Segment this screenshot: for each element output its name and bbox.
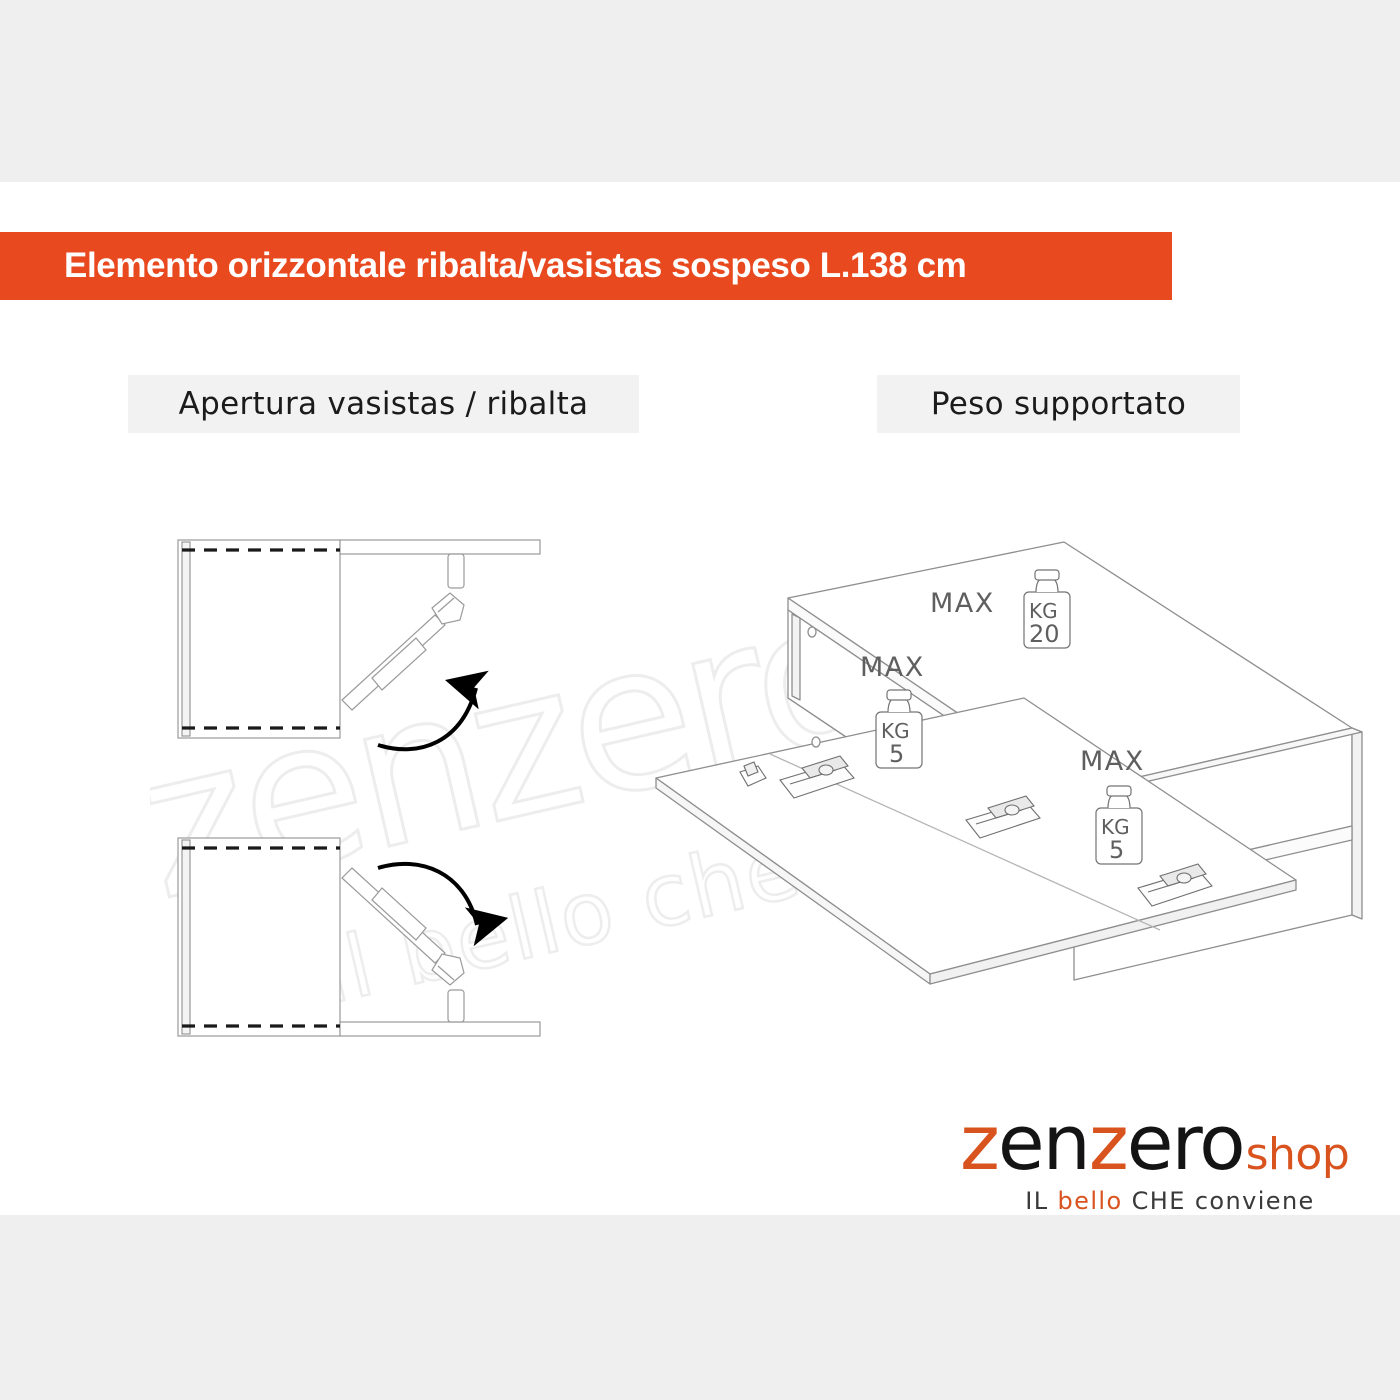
logo-letters-en: en — [998, 1105, 1089, 1181]
diagram-vasistas — [178, 540, 540, 738]
bottom-grey-band — [0, 1215, 1400, 1400]
weight-max-label-20: MAX — [930, 588, 995, 619]
isometric-cabinet-drawing: MAX KG 20 MAX KG 5 MAX KG 5 — [640, 540, 1380, 990]
gas-strut-ribalta — [342, 868, 464, 1022]
weight-max-label-5-right: MAX — [1080, 746, 1145, 777]
section-header-peso: Peso supportato — [877, 375, 1240, 433]
tagline-che: CHE — [1132, 1187, 1186, 1215]
logo-letter-z2: z — [1089, 1105, 1127, 1181]
top-grey-band — [0, 0, 1400, 182]
arrow-up-vasistas — [378, 688, 476, 749]
logo-word-shop: shop — [1246, 1133, 1350, 1177]
page-root: Elemento orizzontale ribalta/vasistas so… — [0, 0, 1400, 1400]
tagline-il: IL — [1025, 1187, 1048, 1215]
gas-strut-vasistas — [342, 554, 464, 710]
logo-letter-z1: z — [960, 1105, 998, 1181]
logo-tagline: IL bello CHE conviene — [960, 1187, 1380, 1215]
tagline-conviene: conviene — [1195, 1187, 1315, 1215]
title-banner: Elemento orizzontale ribalta/vasistas so… — [0, 232, 1172, 300]
tagline-bello: bello — [1058, 1187, 1123, 1215]
diagram-ribalta — [178, 838, 540, 1036]
logo-wordmark: zenzeroshop — [960, 1105, 1380, 1181]
section-header-apertura: Apertura vasistas / ribalta — [128, 375, 639, 433]
page-title: Elemento orizzontale ribalta/vasistas so… — [0, 246, 966, 286]
weight-value-5-right: 5 — [1109, 836, 1124, 864]
weight-value-5-left: 5 — [889, 740, 904, 768]
side-section-drawings — [120, 520, 600, 1080]
weight-max-label-5-left: MAX — [860, 652, 925, 683]
section-header-apertura-label: Apertura vasistas / ribalta — [179, 386, 589, 422]
logo-letters-ero: ero — [1127, 1105, 1244, 1181]
brand-logo: zenzeroshop IL bello CHE conviene — [960, 1105, 1380, 1215]
weight-value-20: 20 — [1029, 620, 1060, 648]
section-header-peso-label: Peso supportato — [931, 386, 1186, 422]
